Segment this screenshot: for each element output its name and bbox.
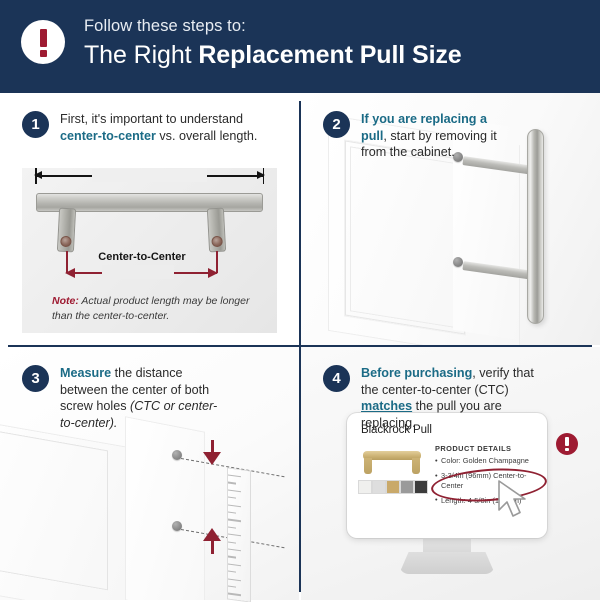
step-4-header: 4 Before purchasing, verify that the cen… — [323, 365, 538, 431]
ruler-tick — [228, 541, 236, 543]
product-thumbnail-strip[interactable] — [359, 481, 427, 493]
ruler-tick — [228, 504, 241, 507]
note-body: Actual product length may be longer than… — [52, 295, 249, 322]
cabinet-bar-pull — [527, 129, 544, 324]
exclamation-dot — [40, 50, 47, 57]
diagram-note: Note: Actual product length may be longe… — [52, 294, 267, 323]
exclamation-dot — [565, 448, 568, 451]
exclamation-bar — [565, 437, 568, 446]
step-1-text: First, it's important to understand cent… — [60, 111, 277, 144]
measure-arrow-up — [203, 528, 221, 541]
alert-exclamation-icon — [21, 20, 65, 64]
page-title: The Right Replacement Pull Size — [84, 39, 462, 71]
product-pull-foot-right — [412, 458, 420, 474]
product-detail-item: Color: Golden Champagne — [435, 456, 535, 466]
infographic-root: Follow these steps to: The Right Replace… — [0, 0, 600, 600]
ctc-arrow-right — [208, 268, 218, 278]
ruler-tick — [228, 593, 241, 596]
ruler-tick — [228, 482, 236, 484]
screw-hole-left — [60, 236, 72, 248]
page-title-bold: Replacement Pull Size — [198, 41, 461, 69]
product-thumbnail[interactable] — [401, 481, 413, 493]
screw-hole-bottom — [453, 257, 463, 267]
step-panel-2: 2 If you are replacing a pull, start by … — [301, 93, 600, 345]
ctc-label-gap — [102, 265, 174, 279]
step-4-underlined[interactable]: matches — [361, 399, 412, 413]
step-1-highlight: center-to-center — [60, 129, 156, 143]
ruler-tick — [228, 571, 236, 573]
product-thumbnail[interactable] — [373, 481, 385, 493]
note-label: Note: — [52, 295, 79, 307]
header-kicker: Follow these steps to: — [84, 16, 462, 36]
product-image — [361, 445, 423, 475]
product-thumbnail[interactable] — [387, 481, 399, 493]
product-details-heading: PRODUCT DETAILS — [435, 444, 511, 453]
step-4-highlight: Before purchasing — [361, 366, 472, 380]
step-1-line1: First, it's important to understand — [60, 112, 243, 126]
step-1-line2: vs. overall length. — [156, 129, 258, 143]
exclamation-bar — [40, 29, 47, 47]
mouse-cursor-icon — [497, 479, 531, 521]
bar-pull-post-right — [207, 208, 226, 253]
ctc-measure-line — [67, 272, 217, 274]
cabinet-door-face — [126, 417, 204, 600]
step-1-badge: 1 — [22, 111, 49, 138]
step-1-header: 1 First, it's important to understand ce… — [22, 111, 277, 144]
step-3-badge: 3 — [22, 365, 49, 392]
ruler-tick — [228, 511, 236, 513]
label-gap — [92, 169, 207, 182]
ctc-label-line1: Center-to-Center — [62, 250, 222, 264]
door-panel-inset — [0, 431, 108, 591]
step-4-text: Before purchasing, verify that the cente… — [361, 365, 538, 431]
monitor-base — [399, 552, 495, 574]
screw-hole-right — [211, 236, 223, 248]
step-2-badge: 2 — [323, 111, 350, 138]
product-thumbnail[interactable] — [415, 481, 427, 493]
overall-length-line — [36, 175, 263, 177]
ruler-tick — [228, 526, 236, 528]
step-2-header: 2 If you are replacing a pull, start by … — [323, 111, 503, 161]
overall-length-tick-right — [263, 168, 265, 184]
step-3-header: 3 Measure the distance between the cente… — [22, 365, 227, 431]
ruler-tick — [228, 519, 241, 522]
page-title-light: The Right — [84, 41, 198, 69]
ruler-tick — [228, 563, 241, 566]
step-4-badge: 4 — [323, 365, 350, 392]
ruler-tick — [228, 585, 236, 587]
step-2-text: If you are replacing a pull, start by re… — [361, 111, 503, 161]
product-pull-foot-left — [364, 458, 372, 474]
header-banner: Follow these steps to: The Right Replace… — [0, 0, 600, 93]
measure-arrow-down — [203, 452, 221, 465]
steps-grid: 1 First, it's important to understand ce… — [0, 93, 600, 600]
ruler-tick — [228, 489, 241, 492]
ruler-tick — [228, 534, 241, 537]
ruler-tick — [228, 548, 241, 551]
ruler-tick — [228, 497, 236, 499]
ruler — [228, 468, 250, 601]
alert-exclamation-icon — [556, 433, 578, 455]
step-panel-3: 3 Measure the distance between the cente… — [0, 347, 299, 600]
step-3-text: Measure the distance between the center … — [60, 365, 227, 431]
step-panel-4: Blackrock Pull PRODUCT DETAILS — [301, 347, 600, 600]
step-panel-1: 1 First, it's important to understand ce… — [0, 93, 299, 345]
ctc-arrow-left — [65, 268, 75, 278]
ruler-tick — [228, 556, 236, 558]
step-3-highlight: Measure — [60, 366, 111, 380]
overall-length-tick-left — [35, 168, 37, 184]
header-text-block: Follow these steps to: The Right Replace… — [84, 16, 462, 71]
ruler-tick — [228, 474, 241, 477]
ruler-tick — [228, 578, 241, 581]
product-thumbnail[interactable] — [359, 481, 371, 493]
bar-pull-post-left — [57, 208, 76, 253]
pull-measurement-diagram: Overall Length Center-to-Center (CTC) — [22, 168, 277, 333]
measure-arrow-stem-bottom — [211, 541, 214, 554]
door-panel-inset-inner — [350, 146, 460, 328]
